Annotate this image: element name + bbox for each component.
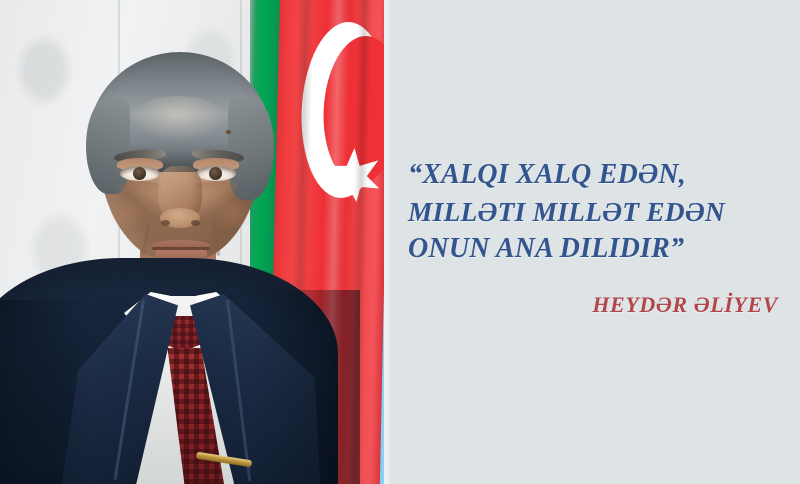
cheek-left [108,196,146,230]
suit-shadow-right [250,290,360,484]
under-eye-left [118,181,162,193]
subject-figure [0,0,390,484]
mole [226,130,231,134]
quote-block: “XALQI XALQ EDƏN, MILLƏTI MILLƏT EDƏN ON… [408,156,800,267]
nostril-right [191,220,200,226]
nostril-left [161,220,170,226]
eye-right [196,166,236,181]
cheek-right [214,196,252,230]
quote-line-1: “XALQI XALQ EDƏN, [408,156,800,193]
suit-shadow-left [0,300,92,484]
eye-left [120,166,160,181]
commemorative-poster: “XALQI XALQ EDƏN, MILLƏTI MILLƏT EDƏN ON… [0,0,800,484]
quote-attribution: HEYDƏR ƏLİYEV [390,292,778,318]
mouth-line [152,247,210,250]
quote-line-2: MILLƏTI MILLƏT EDƏN [408,193,800,230]
quote-line-3: ONUN ANA DILIDIR” [408,230,800,267]
forehead-highlight [130,96,226,142]
quote-panel: “XALQI XALQ EDƏN, MILLƏTI MILLƏT EDƏN ON… [390,0,800,484]
portrait-photo [0,0,390,484]
